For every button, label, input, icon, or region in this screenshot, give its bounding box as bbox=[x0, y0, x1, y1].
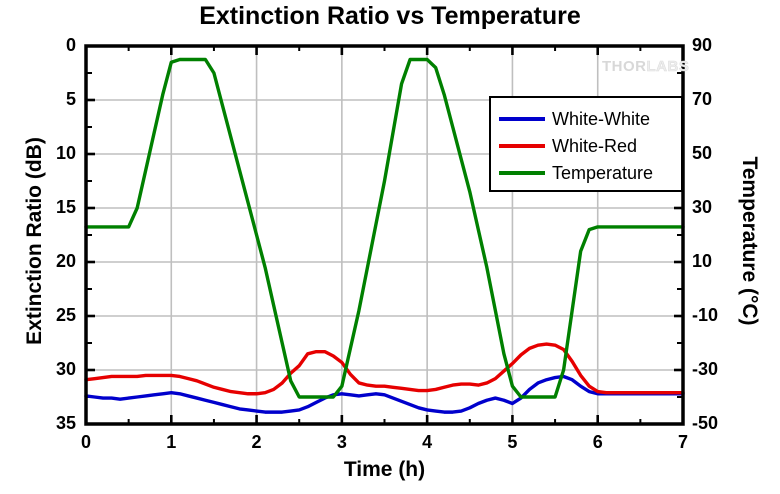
legend-label: White-White bbox=[552, 110, 650, 128]
y-tick-right-70: 70 bbox=[692, 89, 736, 110]
y-tick-left-35: 35 bbox=[36, 413, 76, 434]
y-tick-left-25: 25 bbox=[36, 305, 76, 326]
legend-label: White-Red bbox=[552, 137, 637, 155]
legend-swatch-icon bbox=[499, 117, 545, 121]
x-tick-5: 5 bbox=[492, 432, 532, 453]
x-tick-2: 2 bbox=[237, 432, 277, 453]
y-tick-right--30: -30 bbox=[692, 359, 736, 380]
y-tick-left-30: 30 bbox=[36, 359, 76, 380]
y-tick-right--10: -10 bbox=[692, 305, 736, 326]
x-tick-4: 4 bbox=[407, 432, 447, 453]
watermark-thor: THOR bbox=[602, 58, 647, 75]
chart-figure: Extinction Ratio vs Temperature Extincti… bbox=[0, 0, 780, 494]
legend-swatch-icon bbox=[499, 144, 545, 148]
chart-legend[interactable]: White-WhiteWhite-RedTemperature bbox=[489, 96, 683, 192]
x-tick-0: 0 bbox=[66, 432, 106, 453]
y-tick-right--50: -50 bbox=[692, 413, 736, 434]
y-tick-left-20: 20 bbox=[36, 251, 76, 272]
thorlabs-watermark: THORLABS bbox=[602, 58, 689, 75]
series-line-white-red bbox=[86, 344, 683, 394]
x-tick-3: 3 bbox=[322, 432, 362, 453]
x-tick-7: 7 bbox=[663, 432, 703, 453]
legend-item-white-white[interactable]: White-White bbox=[499, 106, 650, 132]
y-tick-right-10: 10 bbox=[692, 251, 736, 272]
legend-item-white-red[interactable]: White-Red bbox=[499, 133, 637, 159]
y-tick-right-30: 30 bbox=[692, 197, 736, 218]
x-tick-6: 6 bbox=[578, 432, 618, 453]
legend-item-temperature[interactable]: Temperature bbox=[499, 160, 653, 186]
y-tick-left-15: 15 bbox=[36, 197, 76, 218]
y-tick-left-10: 10 bbox=[36, 143, 76, 164]
y-tick-right-90: 90 bbox=[692, 35, 736, 56]
y-tick-left-5: 5 bbox=[36, 89, 76, 110]
y-tick-left-0: 0 bbox=[36, 35, 76, 56]
x-tick-1: 1 bbox=[151, 432, 191, 453]
watermark-labs: LABS bbox=[647, 58, 690, 75]
y-tick-right-50: 50 bbox=[692, 143, 736, 164]
series-line-white-white bbox=[86, 376, 683, 412]
legend-label: Temperature bbox=[552, 164, 653, 182]
legend-swatch-icon bbox=[499, 171, 545, 175]
